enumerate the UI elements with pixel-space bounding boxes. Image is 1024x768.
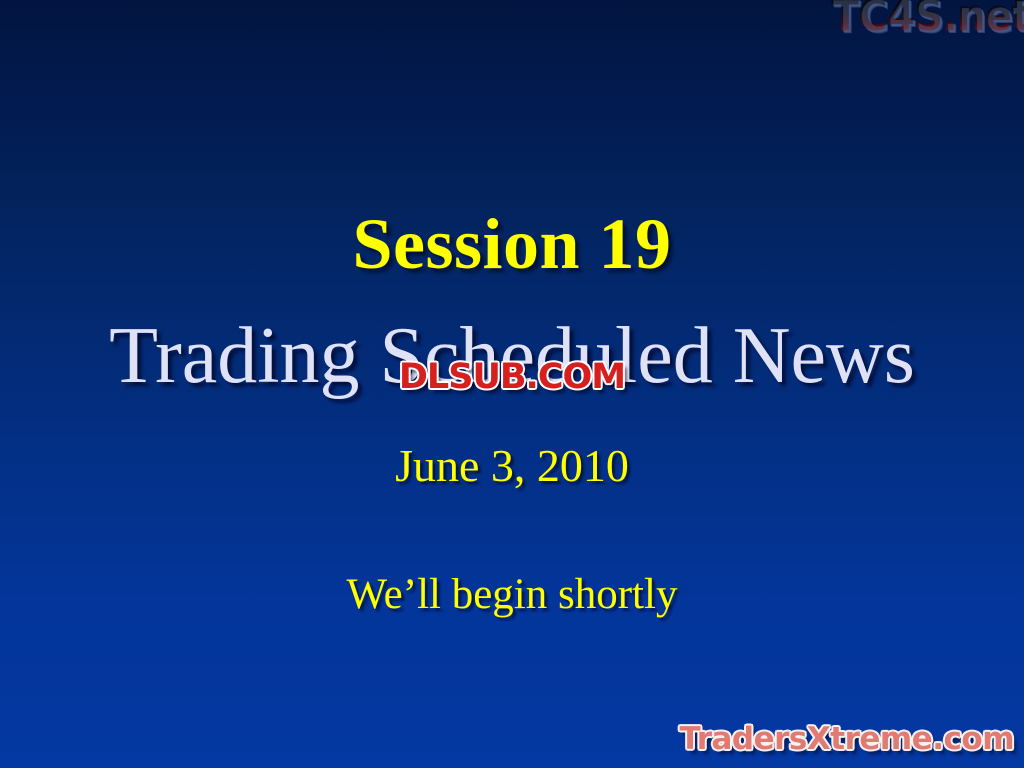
dlsub-watermark-label: DLSUB.COM bbox=[399, 357, 625, 397]
tradersxtreme-watermark: TradersXtreme.com bbox=[679, 722, 1014, 756]
session-heading: Session 19 bbox=[0, 208, 1024, 280]
tc4s-watermark: TC4S.net bbox=[832, 0, 1024, 38]
presentation-slide: Session 19 Trading Scheduled News June 3… bbox=[0, 0, 1024, 768]
begin-notice: We’ll begin shortly bbox=[0, 573, 1024, 616]
dlsub-watermark: DLSUB.COM bbox=[399, 358, 625, 397]
session-date: June 3, 2010 bbox=[0, 443, 1024, 489]
